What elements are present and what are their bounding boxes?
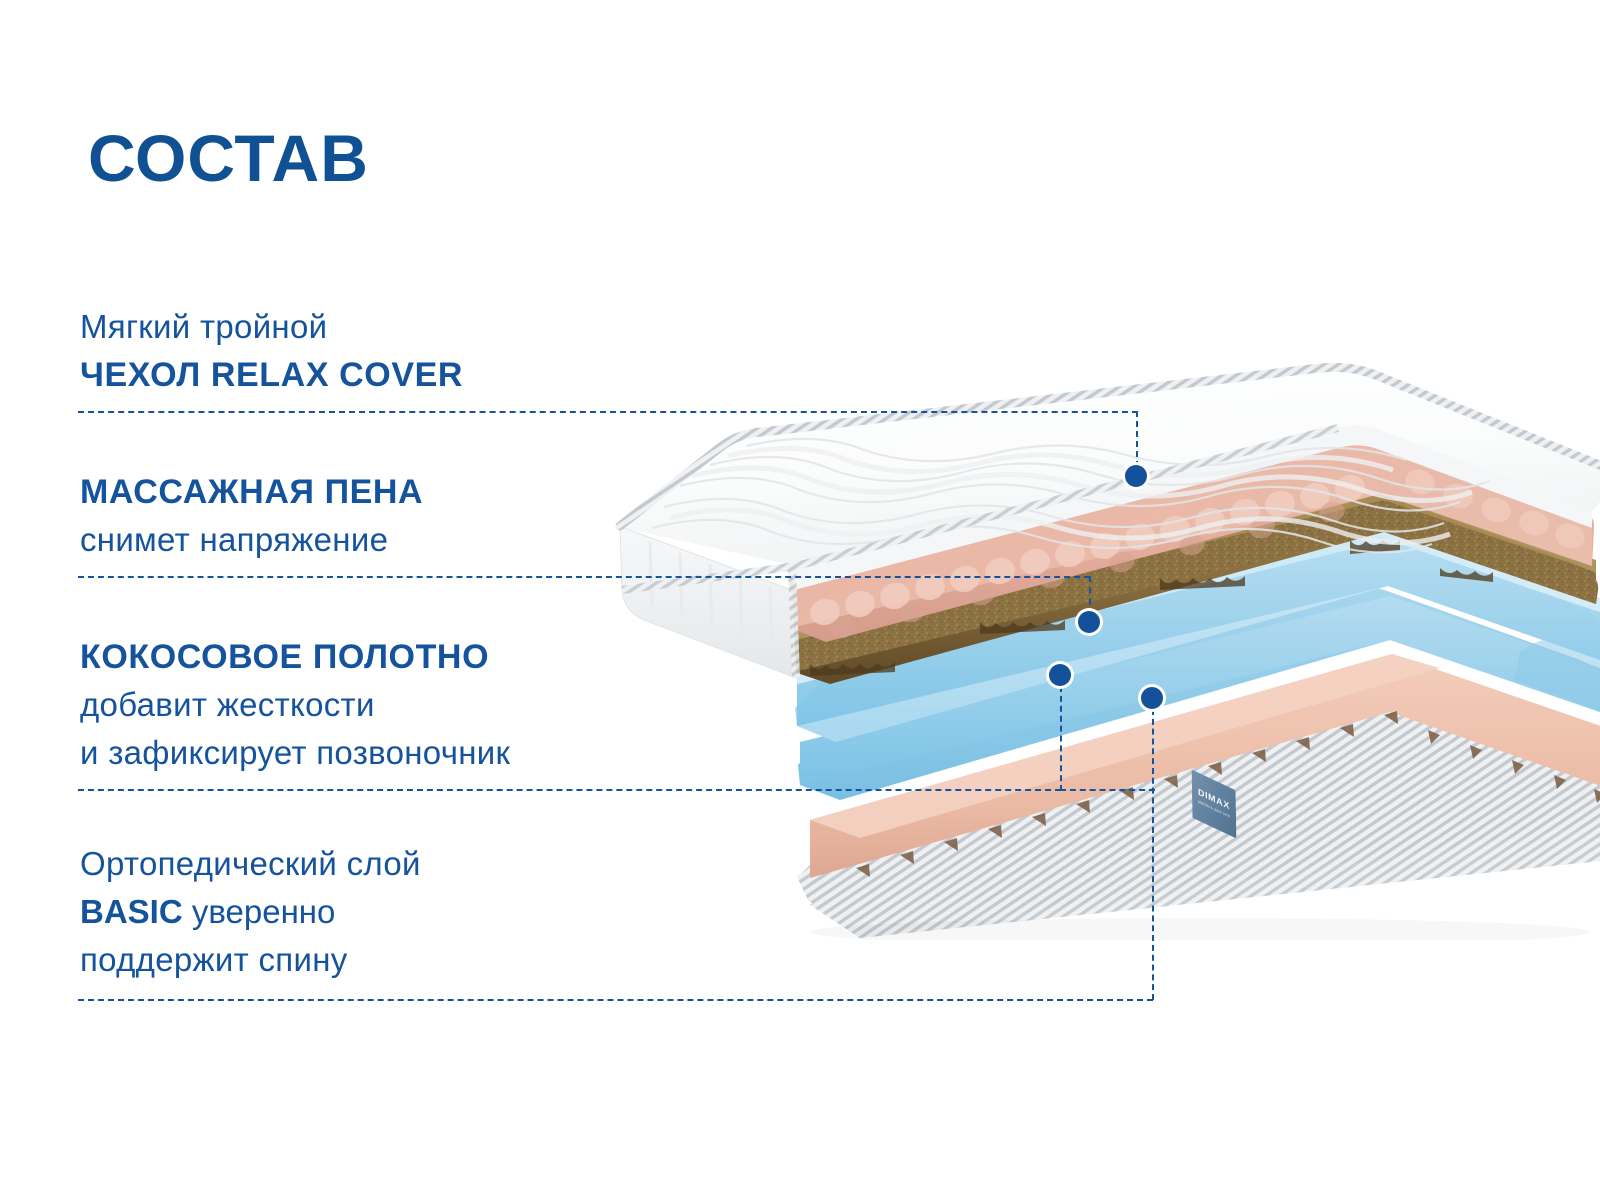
leader-line-coconut-branch bbox=[1060, 789, 1155, 791]
leader-line-basic-horizontal bbox=[78, 999, 1153, 1001]
mattress-layers-svg bbox=[560, 260, 1600, 940]
callout-dot-massage-foam bbox=[1078, 611, 1100, 633]
feature-4-line-3: поддержит спину bbox=[80, 936, 421, 984]
feature-4-basic-word: BASIC bbox=[80, 893, 183, 930]
composition-infographic: СОСТАВ bbox=[0, 0, 1600, 1200]
leader-line-foam-vertical bbox=[1089, 576, 1091, 616]
callout-dot-relax-cover bbox=[1125, 465, 1147, 487]
feature-4-line-1: Ортопедический слой bbox=[80, 840, 421, 888]
leader-line-coconut-horizontal bbox=[78, 789, 1061, 791]
page-title: СОСТАВ bbox=[88, 125, 369, 191]
feature-2-line-1: МАССАЖНАЯ ПЕНА bbox=[80, 468, 423, 516]
feature-block-coconut: КОКОСОВОЕ ПОЛОТНО добавит жесткости и за… bbox=[80, 633, 510, 777]
feature-block-massage-foam: МАССАЖНАЯ ПЕНА снимет напряжение bbox=[80, 468, 423, 564]
leader-line-basic-vertical bbox=[1152, 709, 1154, 1000]
mattress-cutaway-illustration: DIMAX мебель для сна bbox=[560, 260, 1600, 940]
feature-3-line-3: и зафиксирует позвоночник bbox=[80, 729, 510, 777]
leader-line-foam-horizontal bbox=[78, 576, 1090, 578]
leader-line-coconut-vertical bbox=[1060, 686, 1062, 791]
feature-2-line-2: снимет напряжение bbox=[80, 516, 423, 564]
feature-4-line-2-rest: уверенно bbox=[183, 893, 336, 930]
feature-block-basic-layer: Ортопедический слой BASIC уверенно подде… bbox=[80, 840, 421, 984]
feature-block-relax-cover: Мягкий тройной ЧЕХОЛ RELAX COVER bbox=[80, 303, 463, 399]
callout-dot-basic-layer bbox=[1141, 687, 1163, 709]
feature-3-line-2: добавит жесткости bbox=[80, 681, 510, 729]
feature-4-line-2: BASIC уверенно bbox=[80, 888, 421, 936]
feature-1-line-1: Мягкий тройной bbox=[80, 303, 463, 351]
callout-dot-coconut bbox=[1049, 664, 1071, 686]
feature-1-line-2: ЧЕХОЛ RELAX COVER bbox=[80, 351, 463, 399]
leader-line-cover-horizontal bbox=[78, 411, 1138, 413]
feature-3-line-1: КОКОСОВОЕ ПОЛОТНО bbox=[80, 633, 510, 681]
